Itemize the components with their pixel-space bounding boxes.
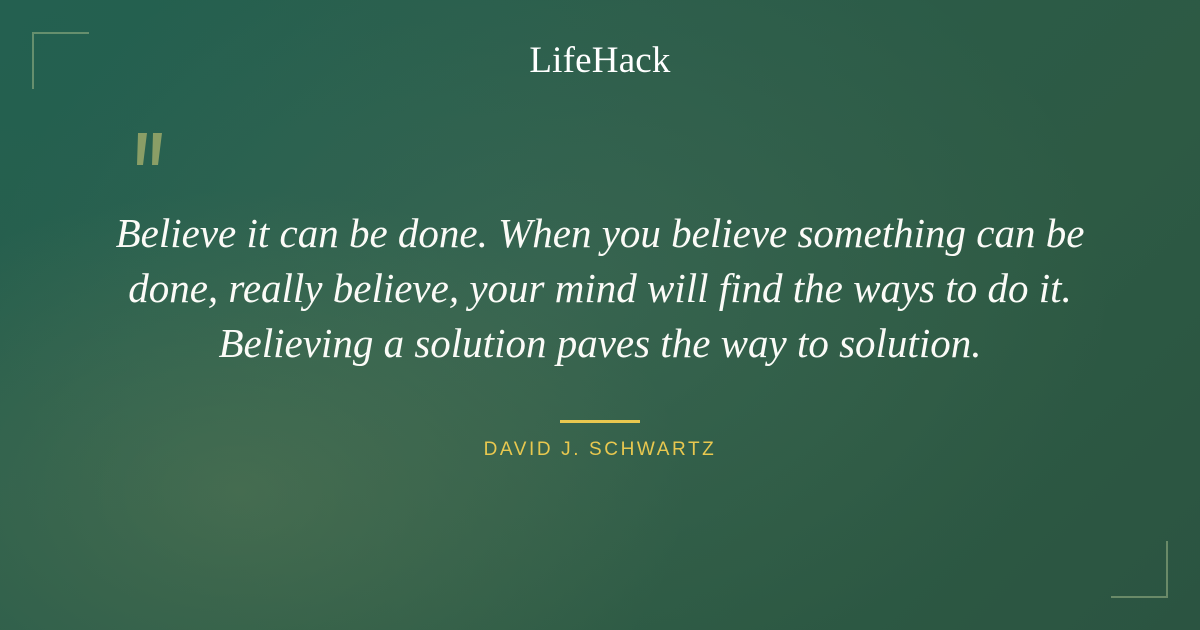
quote-author: DAVID J. SCHWARTZ (0, 439, 1200, 461)
gold-divider (560, 420, 640, 423)
corner-bracket-bottom-right-icon (1111, 541, 1168, 598)
divider-container (0, 410, 1200, 428)
quote-line-2: done, really believe, your mind will fin… (100, 261, 1100, 316)
quote-line-1: Believe it can be done. When you believe… (100, 206, 1100, 261)
quote-card: LifeHack Believe it can be done. When yo… (0, 0, 1200, 630)
quote-text: Believe it can be done. When you believe… (100, 206, 1100, 371)
quote-line-3: Believing a solution paves the way to so… (100, 316, 1100, 371)
quote-mark-icon (126, 127, 186, 187)
lifehack-logo: LifeHack (0, 42, 1200, 81)
